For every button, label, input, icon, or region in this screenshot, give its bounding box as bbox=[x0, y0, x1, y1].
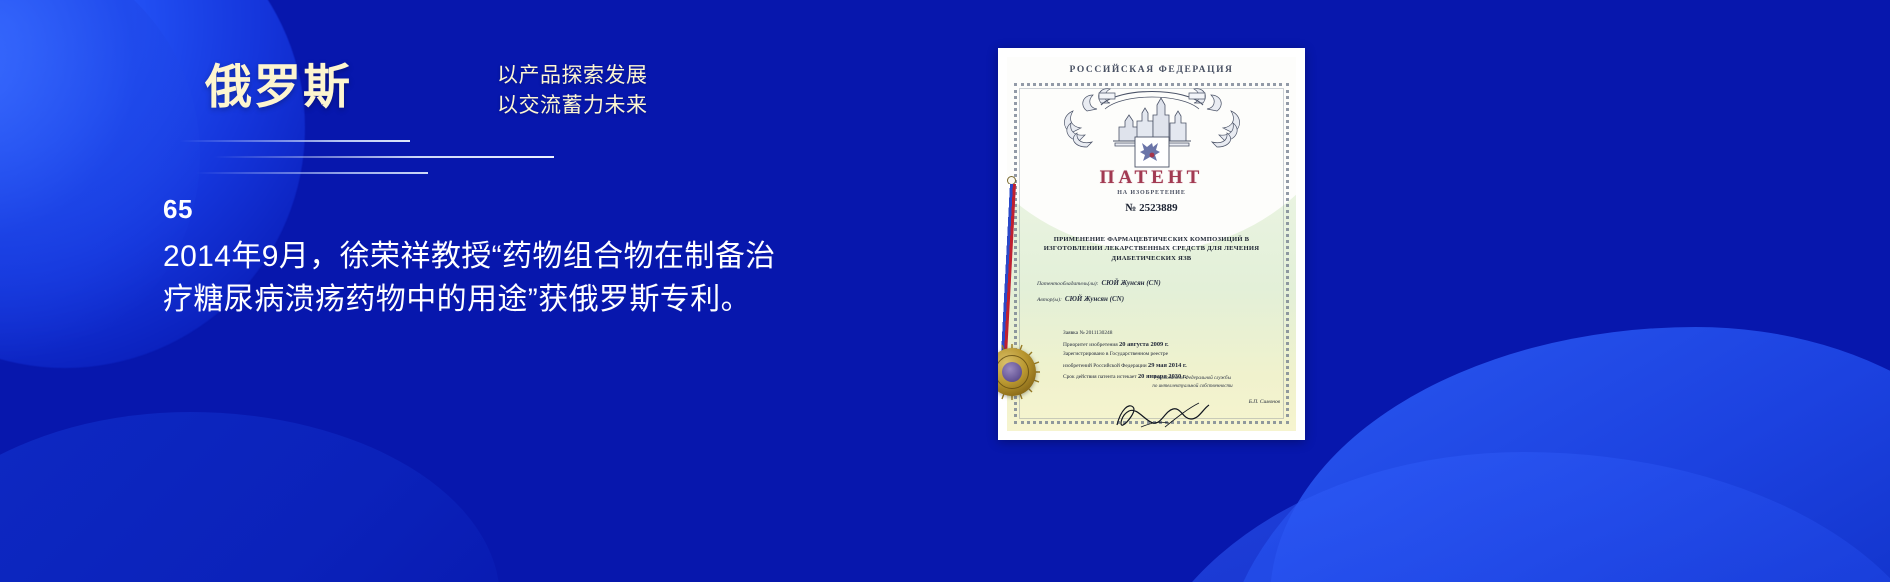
certificate-ribbon bbox=[1004, 176, 1020, 372]
certificate-official-line-2: по интеллектуальной собственности bbox=[1103, 383, 1282, 391]
item-description: 2014年9月，徐荣祥教授“药物组合物在制备治 疗糖尿病溃疡药物中的用途”获俄罗… bbox=[163, 236, 863, 321]
item-number: 65 bbox=[163, 196, 863, 222]
kremlin-engraving-icon bbox=[1007, 79, 1296, 171]
certificate-official-block: Руководитель Федеральной службы по интел… bbox=[1103, 375, 1282, 390]
title-rule-1 bbox=[180, 140, 410, 142]
handwritten-signature-icon bbox=[1111, 401, 1221, 431]
certificate-registered-line-1: Зарегистрировано в Государственном реест… bbox=[1063, 350, 1280, 360]
title-rule-2 bbox=[214, 156, 554, 158]
certificate-priority-label: Приоритет изобретения bbox=[1063, 342, 1118, 348]
certificate-signer-name: Б.П. Симонов bbox=[1249, 399, 1280, 405]
certificate-author-value: СЮЙ Жунсян (CN) bbox=[1065, 295, 1124, 303]
certificate-official-line-1: Руководитель Федеральной службы bbox=[1103, 375, 1282, 383]
certificate-patent-number: № 2523889 bbox=[1007, 202, 1296, 214]
title-rule-3 bbox=[196, 172, 428, 174]
wax-seal-core bbox=[1002, 362, 1022, 382]
certificate-application-line: Заявка № 2011130248 bbox=[1063, 329, 1280, 339]
certificate-author-label: Автор(ы): bbox=[1037, 297, 1062, 303]
certificate-registered-date: 29 мая 2014 г. bbox=[1148, 362, 1187, 369]
certificate-registered-label-2: изобретений Российской Федерации bbox=[1063, 363, 1147, 369]
title-underline-group bbox=[180, 140, 570, 184]
certificate-registered-line-2: изобретений Российской Федерации 29 мая … bbox=[1063, 360, 1280, 372]
certificate-country-heading: РОССИЙСКАЯ ФЕДЕРАЦИЯ bbox=[1007, 65, 1296, 75]
item-description-line-2: 疗糖尿病溃疡药物中的用途”获俄罗斯专利。 bbox=[163, 279, 863, 322]
certificate-content: РОССИЙСКАЯ ФЕДЕРАЦИЯ bbox=[1007, 57, 1296, 431]
certificate-priority-date: 20 августа 2009 г. bbox=[1119, 341, 1169, 348]
certificate-priority-line: Приоритет изобретения 20 августа 2009 г. bbox=[1063, 339, 1280, 351]
certificate-paper: РОССИЙСКАЯ ФЕДЕРАЦИЯ bbox=[1007, 57, 1296, 431]
certificate-author-row: Автор(ы):СЮЙ Жунсян (CN) bbox=[1037, 295, 1278, 303]
slogan-line-1: 以产品探索发展 bbox=[497, 61, 648, 91]
certificate-patent-word: ПАТЕНТ bbox=[1007, 167, 1296, 189]
patent-certificate-image: РОССИЙСКАЯ ФЕДЕРАЦИЯ bbox=[998, 48, 1305, 440]
slogan-line-2: 以交流蓄力未来 bbox=[497, 91, 648, 121]
item-description-line-1: 2014年9月，徐荣祥教授“药物组合物在制备治 bbox=[163, 236, 863, 279]
certificate-patent-subtitle: НА ИЗОБРЕТЕНИЕ bbox=[1007, 190, 1296, 196]
certificate-holder-value: СЮЙ Жунсян (CN) bbox=[1102, 279, 1161, 287]
slogan-block: 以产品探索发展 以交流蓄力未来 bbox=[497, 61, 648, 121]
certificate-holder-label: Патентообладатель(ли): bbox=[1037, 281, 1099, 287]
wave-shape-bottom-left bbox=[0, 412, 500, 582]
wax-seal-ring bbox=[998, 355, 1029, 389]
certificate-invention-title: ПРИМЕНЕНИЕ ФАРМАЦЕВТИЧЕСКИХ КОМПОЗИЦИЙ В… bbox=[1031, 235, 1272, 263]
slide-root: 俄罗斯 以产品探索发展 以交流蓄力未来 65 2014年9月，徐荣祥教授“药物组… bbox=[0, 0, 1890, 582]
body-content: 65 2014年9月，徐荣祥教授“药物组合物在制备治 疗糖尿病溃疡药物中的用途”… bbox=[163, 196, 863, 321]
certificate-holder-row: Патентообладатель(ли):СЮЙ Жунсян (CN) bbox=[1037, 279, 1278, 287]
